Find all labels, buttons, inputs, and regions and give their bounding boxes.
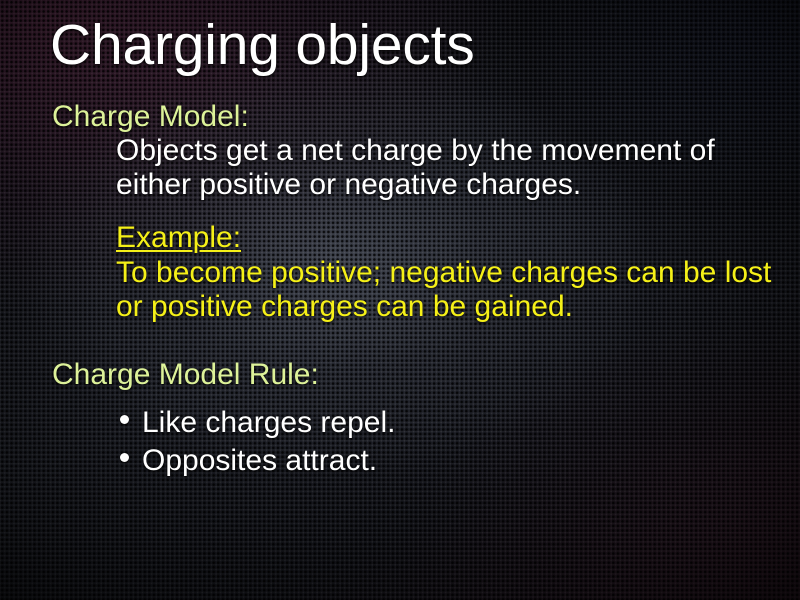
- list-item: Opposites attract.: [120, 442, 395, 480]
- bullet-dot-icon: [120, 453, 129, 462]
- example-body-text: To become positive; negative charges can…: [116, 256, 776, 324]
- charge-model-body-text: Objects get a net charge by the movement…: [116, 134, 776, 202]
- slide-title: Charging objects: [50, 16, 475, 76]
- bullet-label: Like charges repel.: [142, 404, 395, 442]
- section-heading-charge-model-rule: Charge Model Rule:: [52, 358, 319, 392]
- bullet-label: Opposites attract.: [142, 442, 377, 480]
- slide-canvas: Charging objects Charge Model: Objects g…: [0, 0, 800, 600]
- section-heading-charge-model: Charge Model:: [52, 100, 249, 134]
- example-label: Example:: [116, 221, 241, 255]
- charge-model-rule-bullet-list: Like charges repel. Opposites attract.: [120, 404, 395, 480]
- list-item: Like charges repel.: [120, 404, 395, 442]
- slide-content: Charging objects Charge Model: Objects g…: [0, 0, 800, 600]
- bullet-dot-icon: [120, 415, 129, 424]
